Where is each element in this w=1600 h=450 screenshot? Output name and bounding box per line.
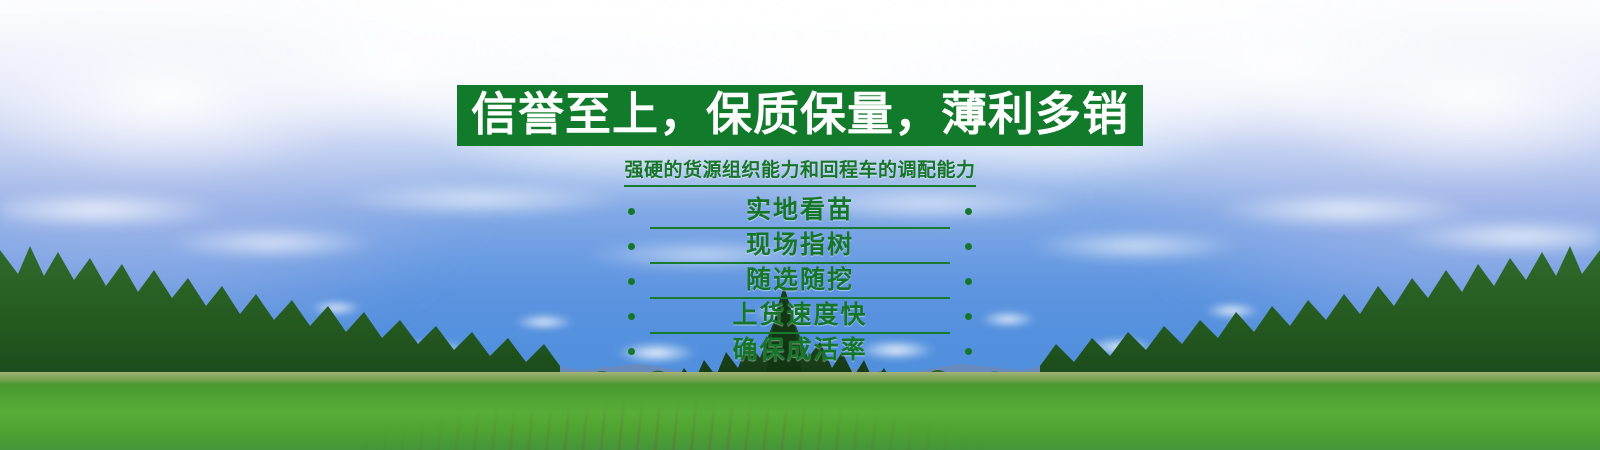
list-item: 上货速度快 — [650, 299, 950, 334]
field-edge-strip — [0, 372, 1600, 385]
bullet-dot-left-icon — [628, 278, 635, 285]
feature-label: 上货速度快 — [732, 301, 867, 329]
crop-field — [0, 372, 1600, 450]
bullet-dot-right-icon — [965, 243, 972, 250]
title-banner-bar: 信誉至上，保质保量，薄利多销 — [457, 85, 1143, 146]
bullet-dot-left-icon — [628, 313, 635, 320]
feature-label: 实地看苗 — [746, 196, 854, 224]
bullet-dot-left-icon — [628, 348, 635, 355]
bullet-dot-right-icon — [965, 313, 972, 320]
list-item: 确保成活率 — [650, 334, 950, 367]
bullet-dot-right-icon — [965, 208, 972, 215]
crop-rows — [0, 398, 1600, 450]
feature-label: 现场指树 — [746, 231, 854, 259]
list-item: 随选随挖 — [650, 264, 950, 299]
feature-label: 随选随挖 — [746, 266, 854, 294]
banner-title: 信誉至上，保质保量，薄利多销 — [471, 91, 1129, 137]
bullet-dot-left-icon — [628, 243, 635, 250]
banner-content: 信誉至上，保质保量，薄利多销 强硬的货源组织能力和回程车的调配能力 实地看苗 现… — [0, 0, 1600, 367]
banner-subtitle: 强硬的货源组织能力和回程车的调配能力 — [624, 155, 975, 187]
bullet-dot-right-icon — [965, 348, 972, 355]
feature-list: 实地看苗 现场指树 随选随挖 上货速度快 确保成活率 — [650, 194, 950, 367]
promo-banner: 信誉至上，保质保量，薄利多销 强硬的货源组织能力和回程车的调配能力 实地看苗 现… — [0, 0, 1600, 450]
list-item: 实地看苗 — [650, 194, 950, 229]
bullet-dot-right-icon — [965, 278, 972, 285]
bullet-dot-left-icon — [628, 208, 635, 215]
feature-label: 确保成活率 — [732, 336, 867, 364]
list-item: 现场指树 — [650, 229, 950, 264]
